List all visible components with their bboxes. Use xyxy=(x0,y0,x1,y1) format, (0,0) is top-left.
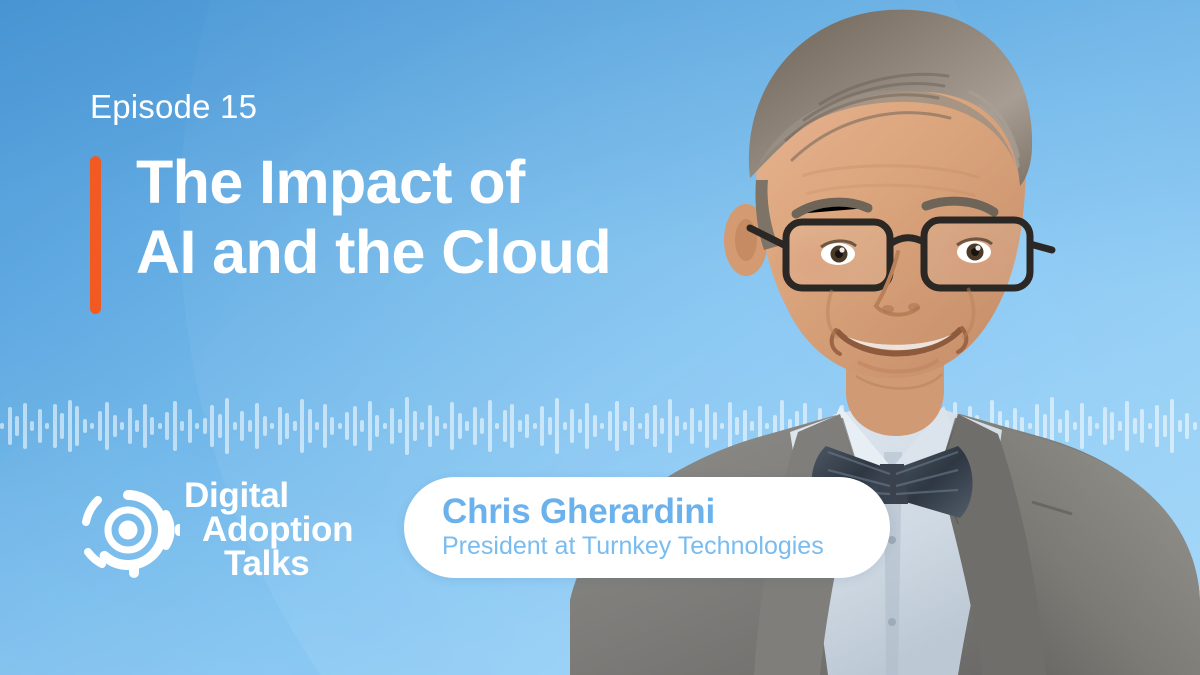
waveform-bar xyxy=(533,423,537,429)
waveform-bar xyxy=(945,418,949,434)
waveform-bar xyxy=(1028,423,1032,429)
waveform-bar xyxy=(930,423,934,429)
waveform-bar xyxy=(443,423,447,429)
waveform-bar xyxy=(630,407,634,445)
waveform-bar xyxy=(495,423,499,429)
waveform-bar xyxy=(1133,418,1137,434)
waveform-bar xyxy=(1178,420,1182,432)
waveform-bar xyxy=(638,423,642,429)
waveform-bar xyxy=(15,416,19,436)
waveform-bar xyxy=(203,418,207,434)
waveform-bar xyxy=(900,398,904,454)
waveform-bar xyxy=(383,423,387,429)
waveform-bar xyxy=(278,407,282,445)
waveform-bar xyxy=(1020,417,1024,435)
waveform-bar xyxy=(0,423,4,429)
waveform-bar xyxy=(878,423,882,429)
waveform-bar xyxy=(240,411,244,441)
waveform-bar xyxy=(30,421,34,431)
brand-line-2: Adoption xyxy=(202,513,353,547)
waveform-bar xyxy=(1125,401,1129,451)
waveform-bar xyxy=(210,405,214,447)
waveform-bar xyxy=(668,399,672,453)
waveform-bar xyxy=(68,400,72,452)
waveform-bar xyxy=(593,415,597,437)
waveform-bar xyxy=(555,398,559,454)
waveform-bar xyxy=(53,404,57,448)
waveform-bar xyxy=(518,420,522,432)
waveform-bar xyxy=(675,416,679,436)
waveform-bar xyxy=(698,420,702,432)
waveform-bar xyxy=(623,421,627,431)
waveform-bar xyxy=(608,411,612,441)
waveform-bar xyxy=(615,401,619,451)
waveform-bar xyxy=(173,401,177,451)
accent-bar xyxy=(90,156,101,314)
waveform-bar xyxy=(248,420,252,432)
waveform-bar xyxy=(803,403,807,449)
waveform-bar xyxy=(840,405,844,447)
waveform-bar xyxy=(908,421,912,431)
waveform-bar xyxy=(915,409,919,443)
waveform-bar xyxy=(1163,415,1167,437)
waveform-bar xyxy=(570,409,574,443)
waveform-bar xyxy=(323,404,327,448)
waveform-bar xyxy=(165,412,169,440)
waveform-bar xyxy=(758,406,762,446)
waveform-bar xyxy=(83,419,87,433)
waveform-bar xyxy=(765,423,769,429)
waveform-bar xyxy=(870,412,874,440)
waveform-bar xyxy=(270,423,274,429)
waveform-bar xyxy=(233,422,237,430)
waveform-bar xyxy=(540,406,544,446)
audio-waveform xyxy=(0,372,1200,480)
waveform-bar xyxy=(458,413,462,439)
waveform-bar xyxy=(968,406,972,446)
waveform-bar xyxy=(510,404,514,448)
waveform-bar xyxy=(1058,419,1062,433)
waveform-bar xyxy=(998,411,1002,441)
waveform-bar xyxy=(300,399,304,453)
waveform-bar xyxy=(1005,420,1009,432)
waveform-bar xyxy=(750,421,754,431)
waveform-bar xyxy=(75,406,79,446)
waveform-bar xyxy=(1155,405,1159,447)
waveform-bar xyxy=(893,416,897,436)
waveform-bar xyxy=(1043,414,1047,438)
guest-role: President at Turnkey Technologies xyxy=(442,532,890,562)
waveform-bar xyxy=(1013,408,1017,444)
waveform-bar xyxy=(1193,422,1197,430)
waveform-bar xyxy=(563,422,567,430)
waveform-bar xyxy=(1073,422,1077,430)
waveform-bar xyxy=(360,420,364,432)
waveform-bar xyxy=(728,402,732,450)
waveform-bar xyxy=(473,407,477,445)
waveform-bar xyxy=(735,417,739,435)
waveform-bar xyxy=(420,422,424,430)
waveform-bar xyxy=(780,400,784,452)
podcast-title: Digital Adoption Talks xyxy=(184,479,353,581)
waveform-bar xyxy=(1118,421,1122,431)
waveform-bar xyxy=(345,412,349,440)
waveform-bar xyxy=(660,418,664,434)
waveform-bar xyxy=(180,421,184,431)
waveform-bar xyxy=(645,413,649,439)
waveform-bar xyxy=(405,397,409,455)
waveform-bar xyxy=(848,417,852,435)
waveform-bar xyxy=(1080,403,1084,449)
sound-wave-circle-icon xyxy=(76,478,180,582)
waveform-bar xyxy=(1035,404,1039,448)
waveform-bar xyxy=(683,422,687,430)
episode-title-block: The Impact of AI and the Cloud xyxy=(90,148,611,314)
waveform-bar xyxy=(413,411,417,441)
waveform-bar xyxy=(1110,412,1114,440)
waveform-bar xyxy=(188,409,192,443)
waveform-bar xyxy=(585,403,589,449)
waveform-bar xyxy=(255,403,259,449)
waveform-bar xyxy=(548,417,552,435)
waveform-bar xyxy=(788,419,792,433)
waveform-bar xyxy=(705,404,709,448)
waveform-bar xyxy=(1095,423,1099,429)
waveform-bar xyxy=(143,404,147,448)
waveform-bar xyxy=(465,421,469,431)
waveform-bar xyxy=(428,405,432,447)
waveform-bar xyxy=(218,414,222,438)
waveform-bar xyxy=(960,422,964,430)
guest-name: Chris Gherardini xyxy=(442,493,890,531)
waveform-bar xyxy=(953,402,957,450)
waveform-bar xyxy=(330,417,334,435)
waveform-bar xyxy=(825,423,829,429)
waveform-bar xyxy=(135,420,139,432)
waveform-bar xyxy=(1170,399,1174,453)
title-line-1: The Impact of xyxy=(136,148,611,218)
waveform-bar xyxy=(713,412,717,440)
waveform-bar xyxy=(1088,416,1092,436)
waveform-bar xyxy=(720,423,724,429)
brand-line-3: Talks xyxy=(224,547,353,581)
waveform-bar xyxy=(293,421,297,431)
waveform-bar xyxy=(1140,409,1144,443)
waveform-bar xyxy=(1065,410,1069,442)
waveform-bar xyxy=(743,410,747,442)
waveform-bar xyxy=(60,413,64,439)
waveform-bar xyxy=(863,420,867,432)
waveform-bar xyxy=(525,414,529,438)
waveform-bar xyxy=(833,414,837,438)
waveform-bar xyxy=(600,423,604,429)
episode-title: The Impact of AI and the Cloud xyxy=(136,148,611,287)
guest-name-card: Chris Gherardini President at Turnkey Te… xyxy=(404,477,890,578)
waveform-bar xyxy=(285,413,289,439)
waveform-bar xyxy=(885,407,889,445)
waveform-bar xyxy=(795,411,799,441)
waveform-bar xyxy=(923,404,927,448)
waveform-bar xyxy=(480,418,484,434)
waveform-bar xyxy=(653,405,657,447)
waveform-bar xyxy=(818,408,822,444)
waveform-bar xyxy=(128,408,132,444)
waveform-bar xyxy=(113,415,117,437)
waveform-bar xyxy=(503,410,507,442)
waveform-bar xyxy=(120,422,124,430)
waveform-bar xyxy=(1103,407,1107,445)
episode-cover: Episode 15 The Impact of AI and the Clou… xyxy=(0,0,1200,675)
waveform-bar xyxy=(390,408,394,444)
waveform-bar xyxy=(1050,397,1054,455)
waveform-bar xyxy=(225,398,229,454)
waveform-bar xyxy=(158,423,162,429)
waveform-bar xyxy=(855,401,859,451)
waveform-bar xyxy=(195,423,199,429)
waveform-bar xyxy=(975,415,979,437)
waveform-bar xyxy=(23,403,27,449)
waveform-bar xyxy=(488,400,492,452)
waveform-bar xyxy=(690,408,694,444)
waveform-bar xyxy=(315,422,319,430)
waveform-bar xyxy=(38,409,42,443)
waveform-bar xyxy=(938,413,942,439)
waveform-bar xyxy=(375,415,379,437)
episode-label: Episode 15 xyxy=(90,90,257,123)
title-line-2: AI and the Cloud xyxy=(136,218,611,288)
waveform-bar xyxy=(1148,423,1152,429)
waveform-bar xyxy=(105,402,109,450)
waveform-bar xyxy=(810,422,814,430)
waveform-bar xyxy=(45,423,49,429)
waveform-bar xyxy=(308,409,312,443)
waveform-bar xyxy=(773,415,777,437)
waveform-bar xyxy=(435,416,439,436)
waveform-bar xyxy=(8,407,12,445)
waveform-bar xyxy=(1185,413,1189,439)
waveform-bar xyxy=(263,416,267,436)
waveform-bar xyxy=(368,401,372,451)
waveform-bar xyxy=(98,411,102,441)
waveform-bar xyxy=(578,419,582,433)
waveform-bar xyxy=(150,417,154,435)
waveform-bar xyxy=(398,419,402,433)
waveform-bar xyxy=(450,402,454,450)
waveform-bar xyxy=(353,406,357,446)
waveform-bar xyxy=(983,423,987,429)
waveform-bar xyxy=(338,423,342,429)
brand-line-1: Digital xyxy=(184,479,353,513)
podcast-logo: Digital Adoption Talks xyxy=(76,478,353,582)
waveform-bar xyxy=(90,423,94,429)
waveform-bar xyxy=(990,400,994,452)
